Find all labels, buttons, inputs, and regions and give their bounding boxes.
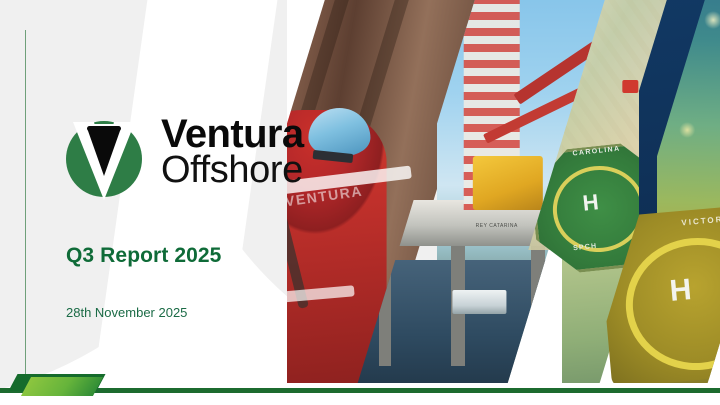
bottom-green-bar: [0, 388, 720, 393]
support-vessel: [452, 290, 506, 314]
ventura-v-logo-icon: [63, 118, 145, 200]
brand-name-line2: Offshore: [161, 153, 304, 188]
helipad-h-marking: H: [668, 273, 693, 309]
brand-logo: Ventura Offshore: [63, 118, 303, 203]
yellow-crane-house: [473, 156, 543, 210]
page-title: Q3 Report 2025: [66, 244, 221, 268]
helipad-h-marking: H: [581, 189, 600, 217]
brand-name-line1: Ventura: [161, 116, 304, 153]
hull-name-text: REY CATARINA: [476, 223, 518, 229]
bottom-chevron-light: [21, 377, 103, 396]
photo-collage: VENTURA REY CATARINA H CAROLINA SPC: [287, 0, 720, 383]
title-slide: VENTURA REY CATARINA H CAROLINA SPC: [0, 0, 720, 405]
vertical-accent-rule: [25, 30, 26, 375]
brand-wordmark: Ventura Offshore: [161, 116, 304, 188]
deck-container: [622, 80, 638, 93]
report-date: 28th November 2025: [66, 305, 187, 320]
